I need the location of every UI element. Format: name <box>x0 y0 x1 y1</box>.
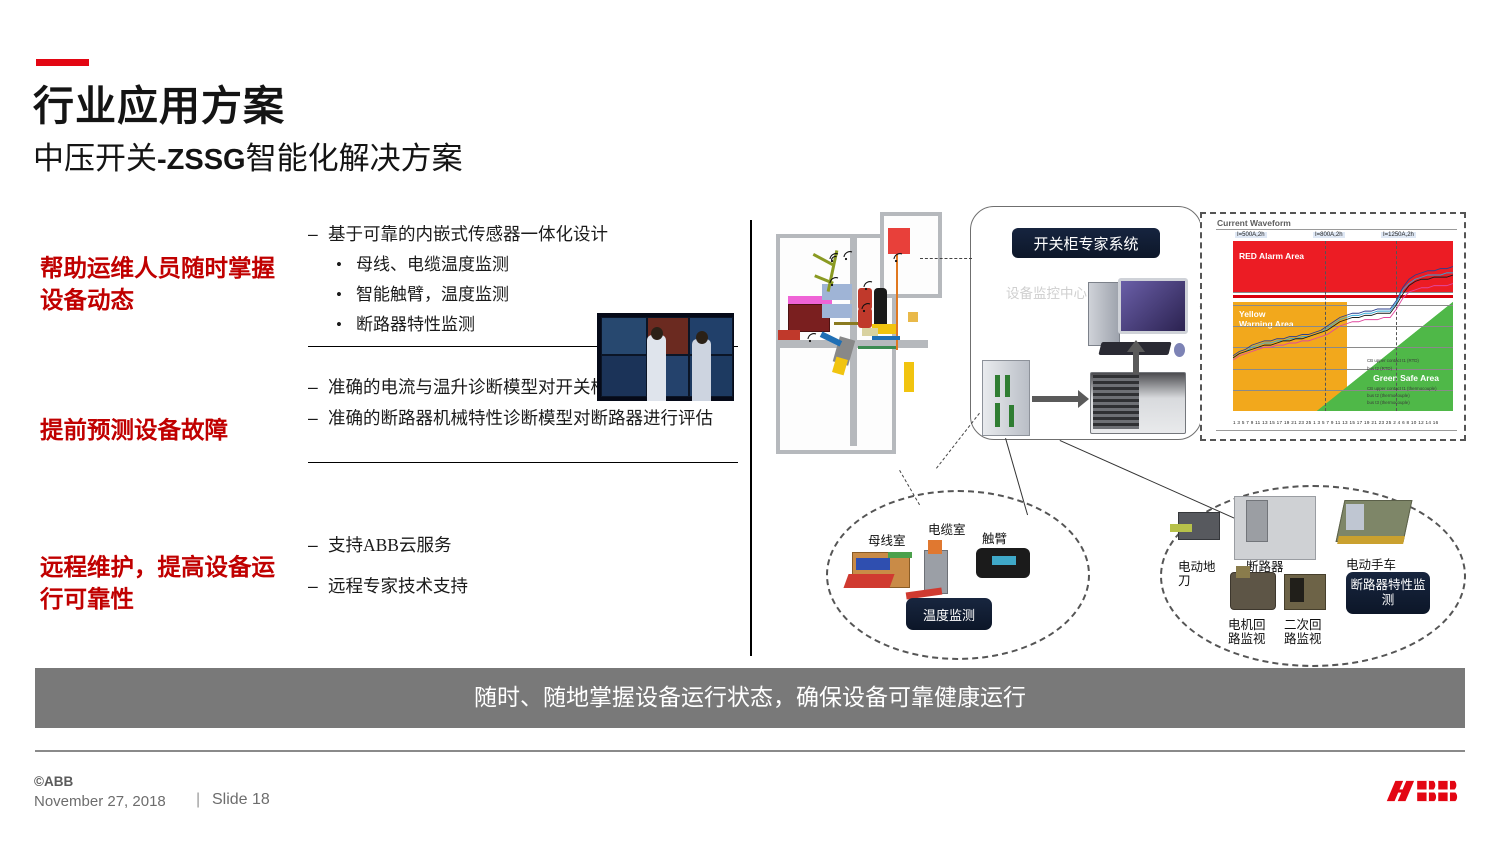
bullet-marker: – <box>308 533 328 558</box>
pc-tower-icon <box>1088 282 1120 346</box>
cluster-part-label: 触臂 <box>982 532 1007 546</box>
chart-title: Current Waveform <box>1217 218 1291 228</box>
chart-xtick-labels: 1 3 5 7 9 11 13 15 17 19 21 23 25 1 3 5 … <box>1233 420 1453 425</box>
bullet-text: 母线、电缆温度监测 <box>356 253 509 278</box>
bullet-marker: – <box>308 406 328 431</box>
callout-label-3: 远程维护，提高设备运行可靠性 <box>40 552 280 617</box>
bullet-item: – 远程专家技术支持 <box>308 574 738 599</box>
chart-annotation: I=800A,2h <box>1313 232 1345 238</box>
control-room-photo <box>597 313 734 401</box>
bullet-marker: • <box>336 283 356 308</box>
bullet-marker: • <box>336 313 356 338</box>
bullet-text: 断路器特性监测 <box>356 313 475 338</box>
cable-compartment-detail <box>928 540 942 554</box>
busbar-part-detail <box>888 552 912 558</box>
bullet-item: • 智能触臂，温度监测 <box>336 283 738 308</box>
bullet-text: 智能触臂，温度监测 <box>356 283 509 308</box>
group-divider <box>308 462 738 463</box>
cluster-part-label: 电动地刀 <box>1178 560 1216 589</box>
flow-arrow <box>1032 396 1082 402</box>
cluster-part-label: 二次回路监视 <box>1284 618 1326 647</box>
title-accent-rule <box>36 59 89 66</box>
footer-slide-number: Slide 18 <box>212 791 270 809</box>
wireless-sensor-icon <box>828 250 839 261</box>
cluster-part-label: 电机回路监视 <box>1228 618 1270 647</box>
connector-cabinet-to-panel <box>920 258 972 259</box>
contact-arm-detail <box>992 556 1016 565</box>
bullet-marker: – <box>308 375 328 400</box>
motorized-truck-detail <box>1346 504 1364 530</box>
temperature-rise-chart: Current Waveform I=500A,2h I=800A,2h I=1… <box>1200 212 1466 441</box>
callout-label-2: 提前预测设备故障 <box>40 415 280 447</box>
temperature-monitoring-badge: 温度监测 <box>906 598 992 630</box>
summary-banner-text: 随时、随地掌握设备运行状态，确保设备可靠健康运行 <box>35 668 1465 728</box>
subtitle-suffix: 智能化解决方案 <box>246 141 463 176</box>
chart-legend-3: CB upper contact t1 (thermocouple) <box>1367 386 1449 393</box>
summary-banner: 随时、随地掌握设备运行状态，确保设备可靠健康运行 <box>35 668 1465 728</box>
bullet-marker: – <box>308 222 328 247</box>
copyright-text: ©ABB <box>34 774 73 789</box>
bullet-group-3: – 支持ABB云服务 – 远程专家技术支持 <box>308 533 738 606</box>
chart-legend-5: bus t3 (thermocouple) <box>1367 400 1449 407</box>
monitoring-center-label: 设备监控中心 <box>1006 282 1087 302</box>
cluster-part-label: 电缆室 <box>928 523 966 537</box>
secondary-circuit-detail <box>1290 578 1304 602</box>
flow-arrow <box>1133 350 1139 374</box>
footer-divider <box>35 750 1465 752</box>
wireless-sensor-icon <box>828 274 839 285</box>
flow-arrow-head <box>1127 340 1145 352</box>
bullet-item: • 母线、电缆温度监测 <box>336 253 738 278</box>
bullet-text: 支持ABB云服务 <box>328 533 738 558</box>
bullet-text: 准确的断路器机械特性诊断模型对断路器进行评估 <box>328 406 738 431</box>
wireless-sensor-icon <box>892 250 903 261</box>
connector-cabinet-to-left-cluster <box>936 413 980 469</box>
bullet-item: – 基于可靠的内嵌式传感器一体化设计 <box>308 222 738 247</box>
gateway-module-icon <box>982 360 1030 436</box>
footer-separator: | <box>196 791 200 809</box>
chart-legend-4: bus t2 (thermocouple) <box>1367 393 1449 400</box>
column-divider <box>750 220 752 656</box>
chart-annotation: I=500A,2h <box>1235 232 1267 238</box>
page-subtitle: 中压开关-ZSSG智能化解决方案 <box>33 133 463 178</box>
busbar-part-detail <box>856 558 890 570</box>
cluster-part-label: 母线室 <box>868 534 906 548</box>
industrial-pc-icon <box>1090 372 1186 434</box>
chart-annotation: I=1250A,2h <box>1381 232 1416 238</box>
footer-date: November 27, 2018 <box>34 793 166 810</box>
chart-plot-area: RED Alarm Area Yellow Warning Area Green… <box>1233 241 1453 411</box>
circuit-breaker-detail <box>1246 500 1268 542</box>
chart-title-rule <box>1216 229 1457 230</box>
wireless-sensor-icon <box>860 300 871 311</box>
monitor-icon <box>1118 278 1188 334</box>
flow-arrow-head <box>1078 390 1089 408</box>
wireless-sensor-icon <box>862 278 873 289</box>
bullet-text: 基于可靠的内嵌式传感器一体化设计 <box>328 222 738 247</box>
chart-legend-2: bus t2 (RTD) <box>1367 366 1449 373</box>
abb-logo <box>1386 779 1464 803</box>
bullet-text: 远程专家技术支持 <box>328 574 738 599</box>
motorized-truck-detail <box>1337 536 1405 544</box>
busbar-part-detail <box>843 574 894 588</box>
wireless-sensor-icon <box>842 248 853 259</box>
expert-system-badge: 开关柜专家系统 <box>1012 228 1160 258</box>
wireless-sensor-icon <box>806 330 817 341</box>
callout-label-1: 帮助运维人员随时掌握设备动态 <box>40 253 280 318</box>
earthing-switch-detail <box>1170 524 1192 532</box>
bullet-item: – 准确的断路器机械特性诊断模型对断路器进行评估 <box>308 406 738 431</box>
breaker-characteristics-badge: 断路器特性监测 <box>1346 572 1430 614</box>
subtitle-product-code: -ZSSG <box>157 144 246 176</box>
chart-baseline <box>1216 430 1457 431</box>
bullet-item: – 支持ABB云服务 <box>308 533 738 558</box>
cluster-part-label: 电动手车 <box>1346 558 1396 572</box>
chart-legend-1: CB upper contact t1 (RTD) <box>1367 358 1449 365</box>
bullet-marker: • <box>336 253 356 278</box>
switchgear-cabinet-illustration <box>776 212 924 450</box>
page-title: 行业应用方案 <box>33 72 285 132</box>
mouse-icon <box>1174 343 1185 357</box>
motor-circuit-detail <box>1236 566 1250 578</box>
subtitle-prefix: 中压开关 <box>33 141 157 176</box>
bullet-marker: – <box>308 574 328 599</box>
